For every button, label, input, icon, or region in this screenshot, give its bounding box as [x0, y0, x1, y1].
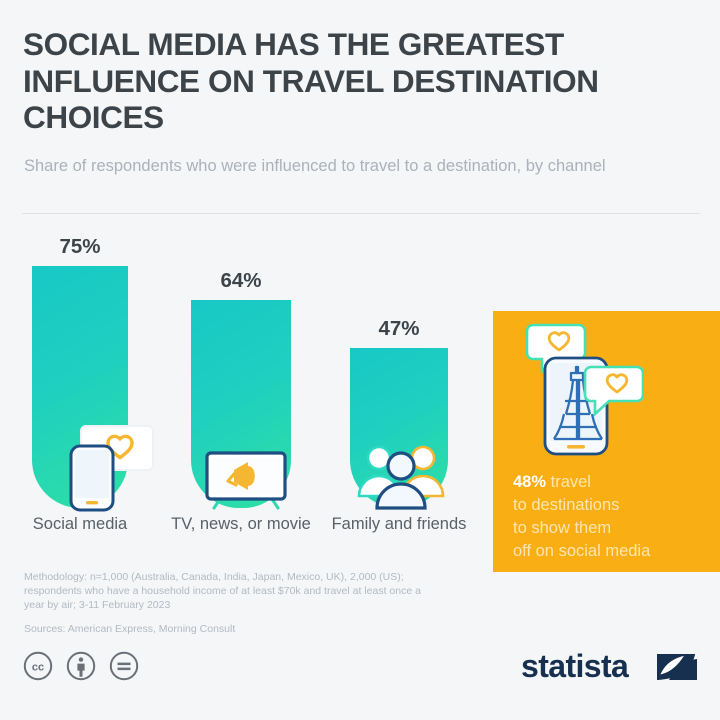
- callout-line3: to show them: [513, 519, 611, 537]
- category-label-social-media: Social media: [5, 514, 155, 534]
- bar-value-label-1: 75%: [32, 235, 128, 259]
- callout-text: 48% travelto destinationsto show themoff…: [513, 471, 709, 563]
- television-megaphone-icon: [196, 450, 296, 510]
- statista-logo-mark: [655, 652, 699, 682]
- callout-panel: 48% travelto destinationsto show themoff…: [493, 311, 720, 572]
- people-group-icon: [352, 442, 450, 510]
- svg-text:cc: cc: [32, 662, 44, 674]
- callout-rest: travel: [546, 473, 591, 491]
- callout-value: 48%: [513, 473, 546, 491]
- category-label-tv-news-movie: TV, news, or movie: [171, 514, 311, 534]
- bar-value-label-3: 47%: [350, 317, 448, 341]
- cc-icon[interactable]: cc: [23, 651, 53, 681]
- page-subtitle: Share of respondents who were influenced…: [24, 154, 664, 178]
- statista-logo[interactable]: statista: [521, 648, 699, 686]
- category-label-family-friends: Family and friends: [330, 514, 468, 534]
- bar-value-label-2: 64%: [191, 269, 291, 293]
- header-divider: [22, 213, 700, 214]
- statista-wordmark: statista: [521, 648, 628, 685]
- callout-line4: off on social media: [513, 542, 650, 560]
- smartphone-heart-icon: [57, 424, 159, 512]
- cc-nd-equals-icon[interactable]: [109, 651, 139, 681]
- smartphone-eiffel-tower-hearts-icon: [519, 321, 644, 461]
- cc-by-person-icon[interactable]: [66, 651, 96, 681]
- methodology-note: Methodology: n=1,000 (Australia, Canada,…: [24, 570, 444, 612]
- sources-note: Sources: American Express, Morning Consu…: [24, 622, 444, 636]
- callout-line2: to destinations: [513, 496, 619, 514]
- infographic-canvas: SOCIAL MEDIA HAS THE GREATEST INFLUENCE …: [0, 0, 720, 720]
- page-title: SOCIAL MEDIA HAS THE GREATEST INFLUENCE …: [23, 26, 695, 136]
